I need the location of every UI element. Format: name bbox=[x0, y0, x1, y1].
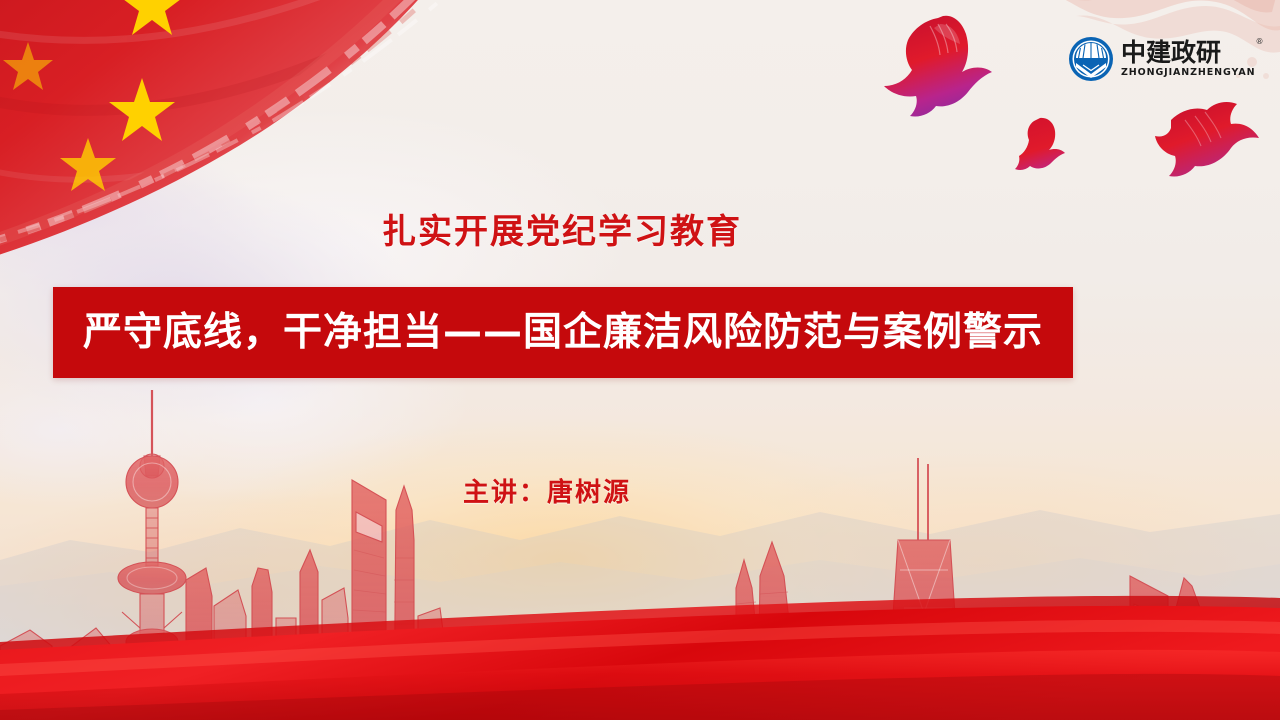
title-banner: 严守底线，干净担当——国企廉洁风险防范与案例警示 bbox=[53, 287, 1073, 378]
logo-mark-icon bbox=[1068, 36, 1114, 82]
speaker-text: 主讲：唐树源 bbox=[463, 472, 631, 509]
dove-icon bbox=[880, 10, 1000, 120]
slide-subtitle-text: 扎实开展党纪学习教育 bbox=[382, 204, 742, 253]
red-ribbon bbox=[0, 590, 1280, 720]
speaker-line: 主讲：唐树源 bbox=[0, 472, 1280, 509]
company-logo: 中建政研 ® ZHONGJIANZHENGYAN bbox=[1068, 34, 1246, 84]
registered-mark: ® bbox=[1255, 38, 1263, 46]
banner-title-text: 严守底线，干净担当——国企廉洁风险防范与案例警示 bbox=[83, 313, 1043, 352]
logo-name-cn-text: 中建政研 bbox=[1121, 38, 1221, 67]
slide-subtitle: 扎实开展党纪学习教育 bbox=[0, 204, 1280, 253]
logo-text-block: 中建政研 ® ZHONGJIANZHENGYAN bbox=[1121, 40, 1255, 79]
dove-icon bbox=[1010, 115, 1070, 170]
title-slide: 扎实开展党纪学习教育 严守底线，干净担当——国企廉洁风险防范与案例警示 主讲：唐… bbox=[0, 0, 1280, 720]
chinese-flag bbox=[0, 0, 590, 330]
logo-name-en: ZHONGJIANZHENGYAN bbox=[1121, 67, 1255, 78]
dove-icon bbox=[1155, 100, 1260, 180]
logo-name-cn: 中建政研 ® bbox=[1121, 40, 1255, 66]
